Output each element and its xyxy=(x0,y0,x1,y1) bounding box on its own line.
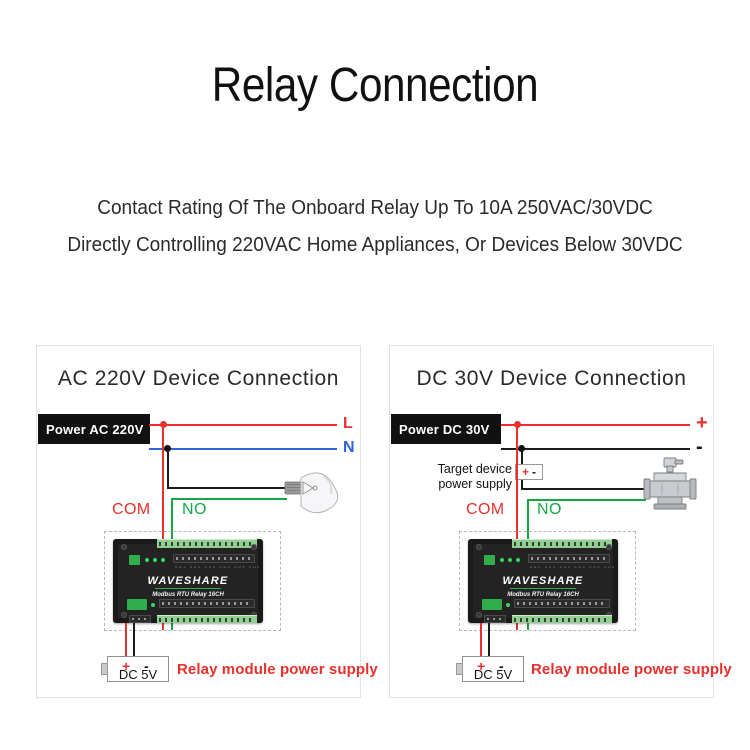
wire-5v-negative-dc xyxy=(488,623,490,658)
panel-dc-30v: DC 30V Device Connection Power DC 30V + … xyxy=(389,345,714,698)
wire-valve-negative xyxy=(521,488,646,490)
wire-5v-negative xyxy=(133,623,135,658)
board-channel-labels-top-dc: CH1 CH2 CH3 CH4 CH5 CH6 CH7 CH8 xyxy=(530,565,618,569)
label-line-n: N xyxy=(343,440,355,456)
board-green-connector-top xyxy=(129,555,140,565)
label-dc-minus: - xyxy=(696,439,703,455)
wire-dc-negative xyxy=(501,448,690,450)
board-green-connector-bottom xyxy=(127,599,147,610)
board-bottom-green-header xyxy=(157,615,257,623)
board-bottom-left-header xyxy=(129,615,151,623)
dc5v-label: DC 5V xyxy=(108,668,168,682)
target-supply-caption-line2: power supply xyxy=(412,477,512,492)
panel-dc-title: DC 30V Device Connection xyxy=(390,366,713,392)
dc5v-supply-box-dc: + - DC 5V xyxy=(462,656,524,682)
dc5v-supply-box: + - DC 5V xyxy=(107,656,169,682)
board-channel-labels-top: CH1 CH2 CH3 CH4 CH5 CH6 CH7 CH8 xyxy=(175,565,263,569)
wire-5v-positive-dc xyxy=(480,623,482,658)
target-supply-minus: - xyxy=(532,467,536,477)
dc5v-battery-nub xyxy=(101,663,108,675)
power-tag-ac: Power AC 220V xyxy=(38,414,150,444)
board-upper-pin-header-dc xyxy=(528,554,610,563)
terminal-label-no-dc: NO xyxy=(537,501,562,519)
light-bulb-icon xyxy=(283,464,343,514)
relay-board-dc: CH1 CH2 CH3 CH4 CH5 CH6 CH7 CH8 WAVESHAR… xyxy=(468,539,618,623)
terminal-label-com: COM xyxy=(112,501,151,519)
board-top-green-header-dc xyxy=(512,539,612,548)
board-bottom-green-header-dc xyxy=(512,615,612,623)
relay-supply-caption-dc: Relay module power supply xyxy=(531,661,732,678)
power-tag-dc-label: Power DC 30V xyxy=(399,422,490,437)
relay-board-ac: CH1 CH2 CH3 CH4 CH5 CH6 CH7 CH8 WAVESHAR… xyxy=(113,539,263,623)
dc5v-label-dc: DC 5V xyxy=(463,668,523,682)
subtitle-line-1: Contact Rating Of The Onboard Relay Up T… xyxy=(19,195,732,221)
board-green-connector-top-dc xyxy=(484,555,495,565)
target-supply-terminal: + - xyxy=(515,464,543,480)
wire-dc-positive xyxy=(501,424,690,426)
solenoid-valve-icon xyxy=(642,456,698,516)
board-upper-pin-header xyxy=(173,554,255,563)
board-green-connector-bottom-dc xyxy=(482,599,502,610)
power-tag-ac-label: Power AC 220V xyxy=(46,422,144,437)
panel-ac-title: AC 220V Device Connection xyxy=(37,366,360,392)
wire-neutral-to-bulb xyxy=(167,487,287,489)
board-brand-label: WAVESHARE xyxy=(113,575,263,587)
wire-neutral-drop xyxy=(167,450,169,489)
wire-neutral-n xyxy=(149,448,337,450)
board-lower-pin-header xyxy=(159,599,255,608)
terminal-label-com-dc: COM xyxy=(466,501,505,519)
dc5v-battery-nub-dc xyxy=(456,663,463,675)
terminal-label-no: NO xyxy=(182,501,207,519)
label-dc-plus: + xyxy=(696,415,708,431)
board-model-label-dc: Modbus RTU Relay 16CH xyxy=(468,591,618,599)
wire-live-l xyxy=(149,424,337,426)
subtitle-line-2: Directly Controlling 220VAC Home Applian… xyxy=(19,232,732,258)
target-supply-caption: Target device power supply xyxy=(412,462,512,492)
wire-dc-negative-drop xyxy=(521,450,523,464)
board-model-label: Modbus RTU Relay 16CH xyxy=(113,591,263,599)
board-top-green-header xyxy=(157,539,257,548)
wire-no-to-bulb xyxy=(171,498,287,500)
panel-ac-220v: AC 220V Device Connection Power AC 220V … xyxy=(36,345,361,698)
target-supply-plus: + xyxy=(522,467,529,477)
label-line-l: L xyxy=(343,416,353,432)
page-title: Relay Connection xyxy=(45,58,705,114)
power-tag-dc: Power DC 30V xyxy=(391,414,501,444)
board-brand-label-dc: WAVESHARE xyxy=(468,575,618,587)
board-lower-pin-header-dc xyxy=(514,599,610,608)
board-bottom-left-header-dc xyxy=(484,615,506,623)
relay-connection-infographic: Relay Connection Contact Rating Of The O… xyxy=(0,0,750,750)
relay-supply-caption: Relay module power supply xyxy=(177,661,378,678)
target-supply-caption-line1: Target device xyxy=(412,462,512,477)
wire-5v-positive xyxy=(125,623,127,658)
